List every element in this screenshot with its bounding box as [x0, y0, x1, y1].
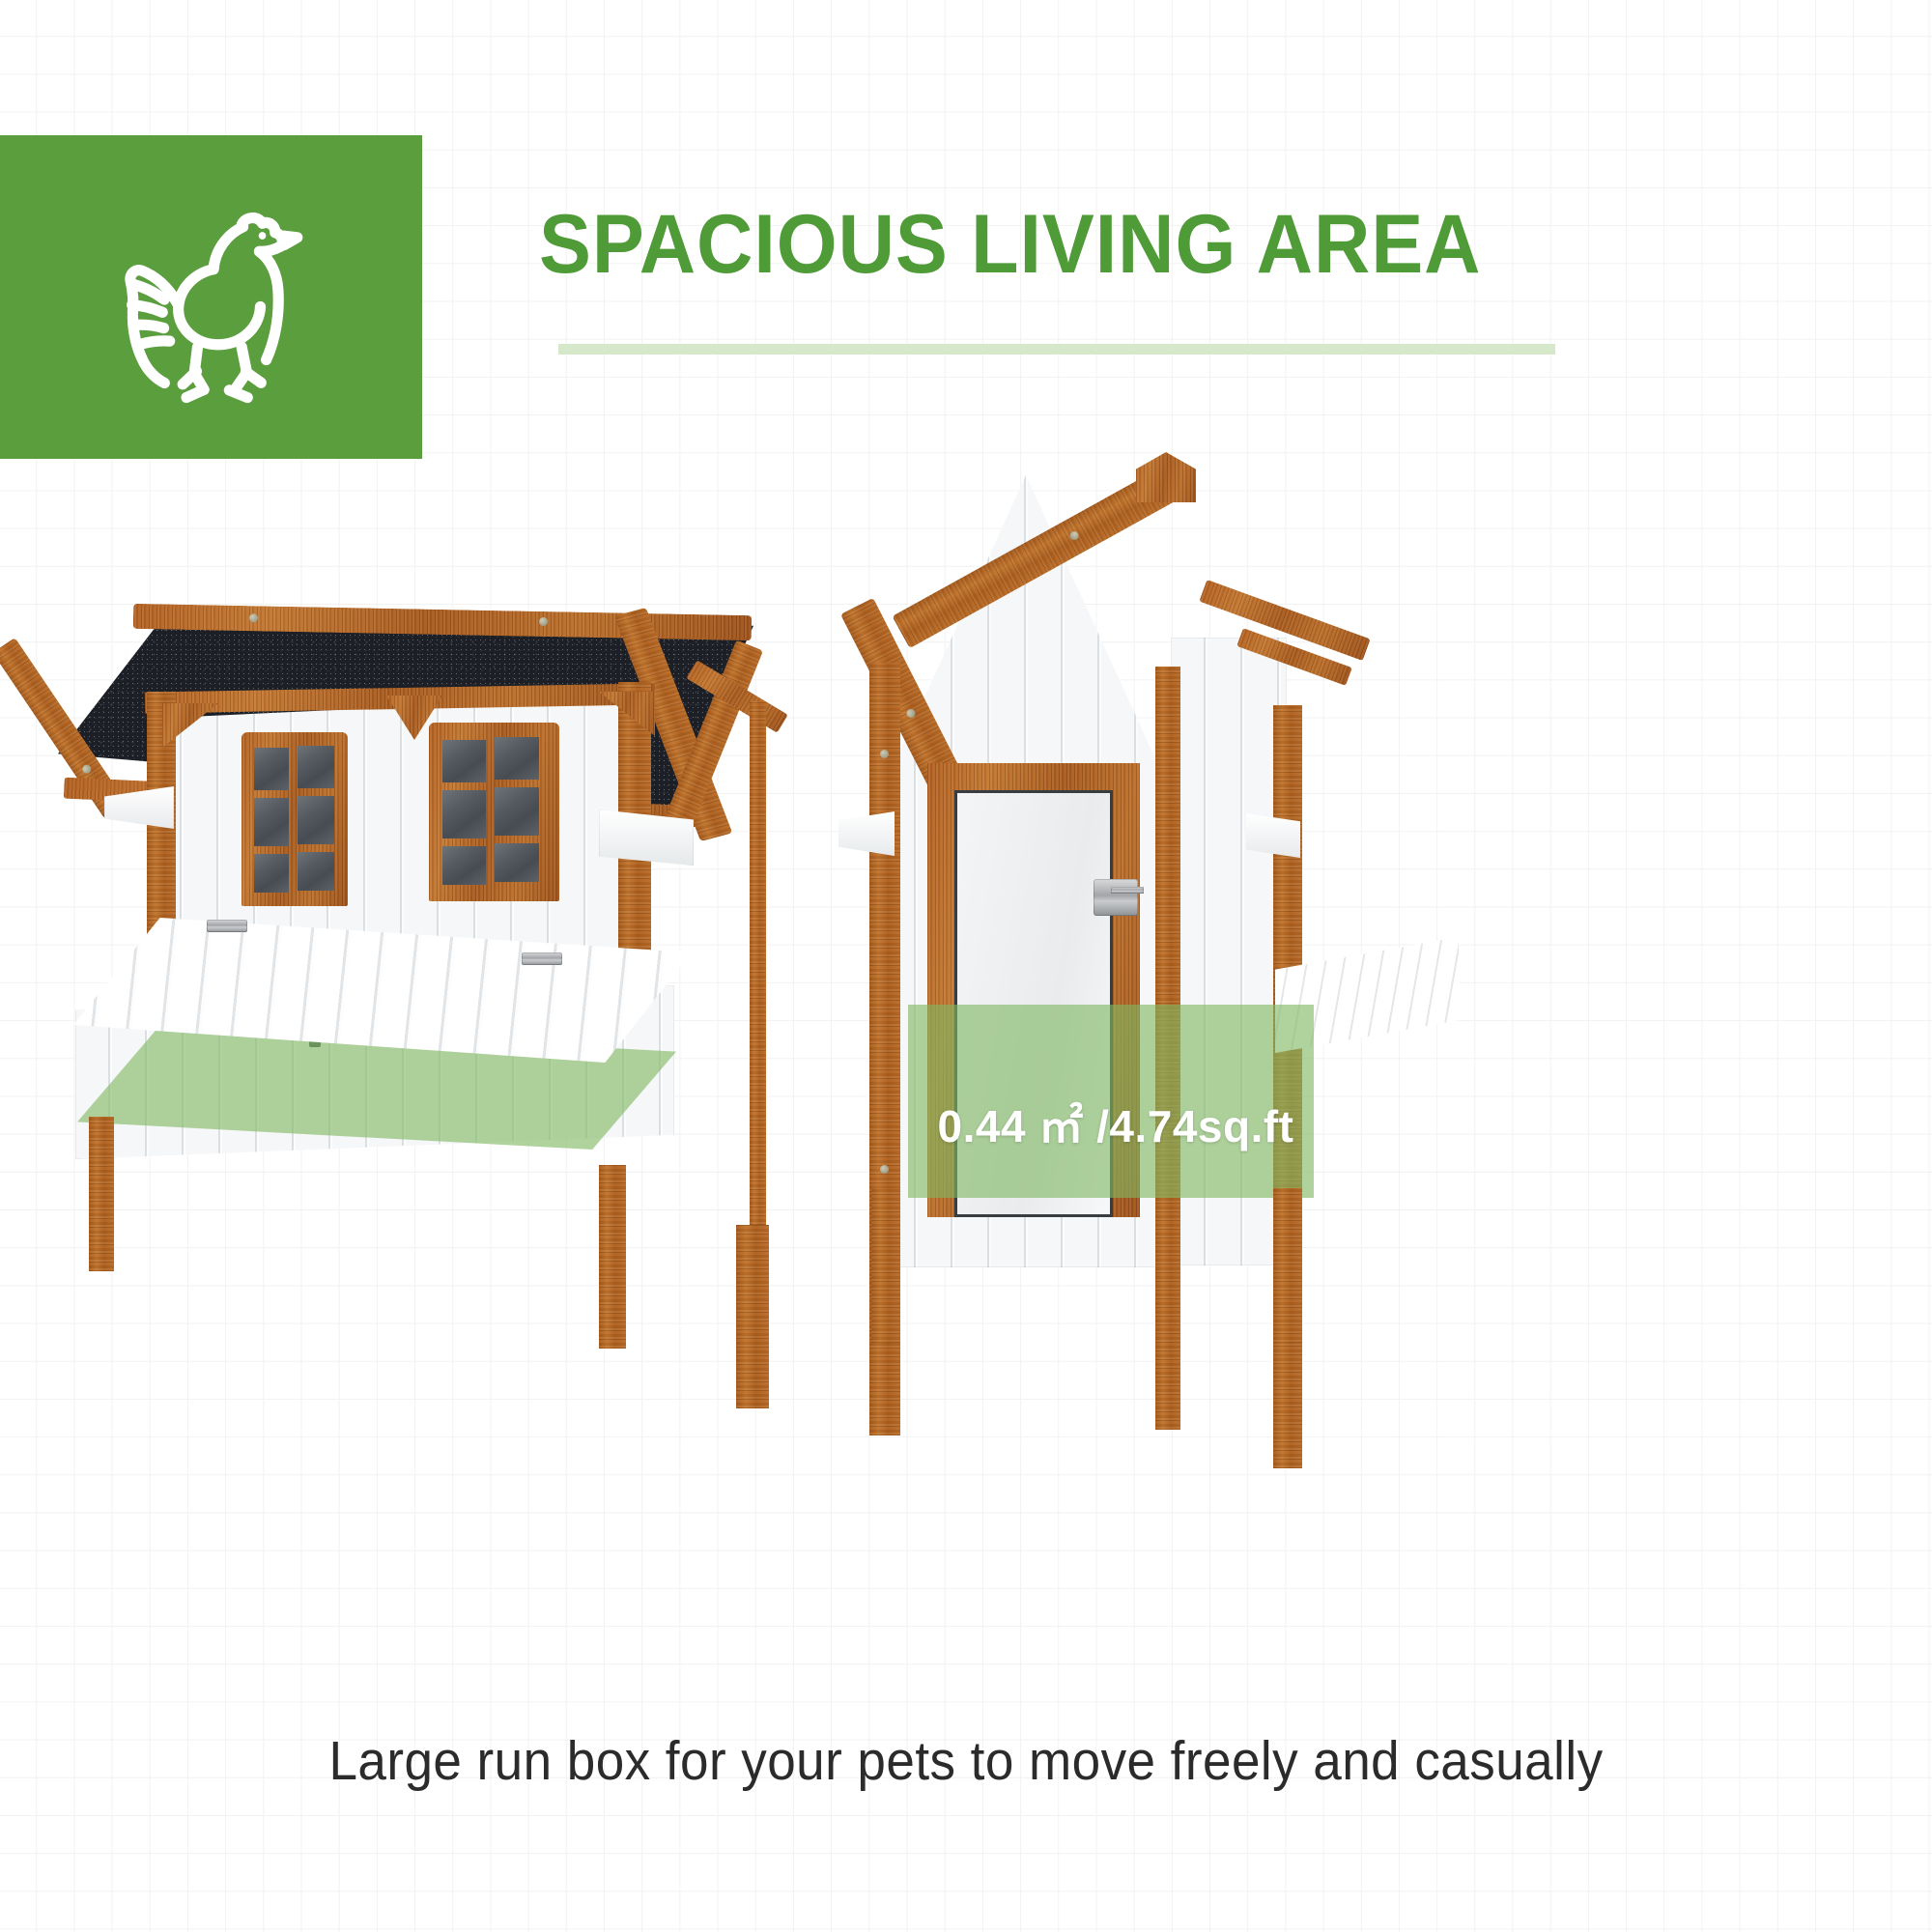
infographic-canvas: SPACIOUS LIVING AREA — [0, 0, 1932, 1932]
coop-leg — [871, 1188, 900, 1343]
chicken-icon — [88, 174, 334, 420]
title-underline — [558, 344, 1555, 355]
gable-peak-cap — [1136, 452, 1196, 502]
coop-leg — [599, 1165, 626, 1349]
chicken-badge — [0, 135, 422, 459]
page-title: SPACIOUS LIVING AREA — [539, 203, 1556, 286]
side-vent-flap — [838, 811, 895, 856]
slide-bolt-latch[interactable] — [1094, 879, 1138, 916]
coop-leg — [1273, 1188, 1302, 1343]
lid-hinge — [207, 920, 247, 932]
bottom-caption: Large run box for your pets to move free… — [68, 1729, 1864, 1793]
coop-window — [241, 732, 348, 906]
lid-hinge — [522, 952, 562, 965]
chicken-coop-side-view: 0.44 ㎡ /4.74sq.ft — [831, 425, 1546, 1565]
coop-leg — [89, 1117, 114, 1271]
area-measurement-label: 0.44 ㎡ /4.74sq.ft — [908, 1092, 1323, 1155]
slide-bolt-bar[interactable] — [1111, 887, 1144, 894]
support-pole-leg — [736, 1225, 769, 1408]
coop-window — [429, 723, 559, 901]
roof-support-pole — [750, 701, 766, 1242]
